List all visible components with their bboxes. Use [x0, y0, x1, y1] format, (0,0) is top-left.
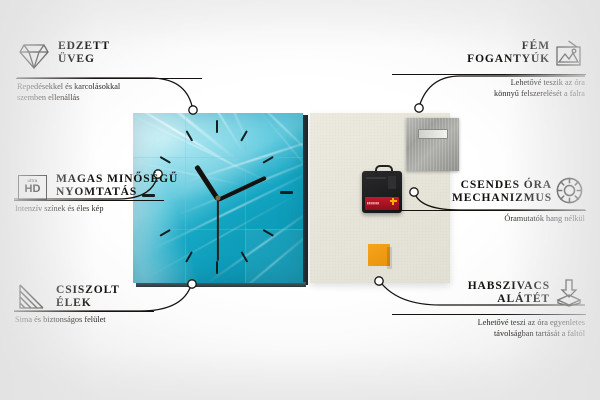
hour-tick — [216, 261, 218, 274]
mechanism-hook — [375, 165, 393, 176]
callout-title-line1: CSISZOLT — [56, 284, 120, 297]
hour-tick — [185, 251, 193, 263]
callout-title-line2: ÉLEK — [56, 297, 120, 310]
hour-tick — [280, 191, 293, 194]
callout-title-line2: FOGANTYÚK — [467, 53, 550, 66]
callout-title-line1: HABSZIVACS — [468, 280, 550, 293]
picture-hanger-icon — [553, 40, 584, 72]
metal-hanger-plate — [406, 118, 459, 171]
callout-desc-line1: Lehetővé teszi az óra egyenletes — [478, 318, 585, 329]
clock-center-hub — [216, 196, 221, 201]
callout-title-line2: MECHANIZMUS — [452, 192, 552, 205]
callout-title-line2: NYOMTATÁS — [56, 186, 178, 199]
callout-title-line1: EDZETT — [58, 40, 110, 53]
callout-desc-line1: Óramutatók hang nélkül — [504, 214, 585, 225]
callout-title-line1: MAGAS MINŐSÉGŰ — [56, 173, 178, 186]
gear-icon — [555, 176, 584, 210]
product-clock-back: ▮▮▮▮▮▮ — [310, 113, 450, 283]
ultra-hd-bottom-text: HD — [19, 184, 46, 195]
ultra-hd-icon: ultra HD — [18, 175, 47, 200]
foam-spacer-pad — [368, 244, 390, 266]
infographic-canvas: ▮▮▮▮▮▮ — [0, 0, 600, 400]
callout-title-line1: CSENDES ÓRA — [452, 179, 552, 192]
aa-battery: ▮▮▮▮▮▮ — [365, 197, 399, 210]
second-hand — [217, 199, 219, 261]
hour-tick — [159, 229, 171, 237]
hanger-keyhole-slot — [418, 129, 448, 139]
callout-desc-line1: Repedésekkel és karcolásokkal — [17, 82, 120, 93]
callout-desc-line2: távolságban tartását a faltól — [478, 329, 585, 340]
callout-desc-line1: Sima és biztonságos felület — [15, 315, 106, 326]
diamond-icon — [19, 42, 49, 75]
hour-tick — [216, 120, 218, 133]
callout-title-line2: ÜVEG — [58, 53, 110, 66]
callout-desc-line1: Intenzív színek és éles kép — [15, 204, 103, 215]
callout-desc-line2: könnyű felszerelését a falra — [494, 89, 585, 100]
clock-mechanism: ▮▮▮▮▮▮ — [362, 171, 402, 213]
callout-desc-line2: szemben ellenállás — [17, 93, 120, 104]
callout-title-line2: ALÁTÉT — [468, 293, 550, 306]
foam-pad-icon — [554, 279, 584, 312]
callout-desc-line1: Lehetővé teszik az óra — [494, 78, 585, 89]
callout-title-line1: FÉM — [467, 40, 550, 53]
